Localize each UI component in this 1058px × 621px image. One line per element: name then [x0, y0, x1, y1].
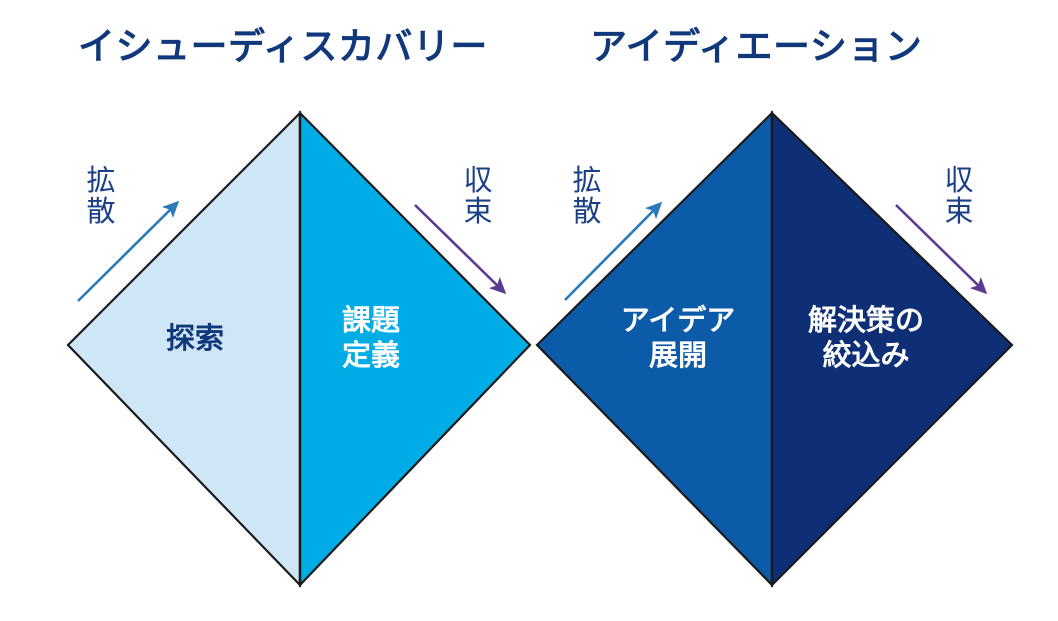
heading-ideation: アイディエーション — [590, 28, 922, 65]
heading-issue-discovery: イシューディスカバリー — [78, 28, 488, 65]
flow-label-diverge-2: 拡 散 — [570, 166, 604, 229]
phase-label-idea-expansion: アイデア 展開 — [604, 304, 752, 375]
flow-label-converge-1: 収 束 — [461, 166, 495, 229]
flow-label-converge-2: 収 束 — [942, 166, 976, 229]
flow-label-diverge-1: 拡 散 — [84, 166, 118, 229]
double-diamond-diagram: イシューディスカバリー アイディエーション 拡 散 収 束 拡 散 収 束 探索… — [0, 0, 1058, 621]
phase-label-exploration: 探索 — [140, 322, 250, 357]
phase-label-problem-definition: 課題 定義 — [312, 304, 430, 375]
phase-label-solution-narrowing: 解決策の 絞込み — [785, 304, 947, 375]
